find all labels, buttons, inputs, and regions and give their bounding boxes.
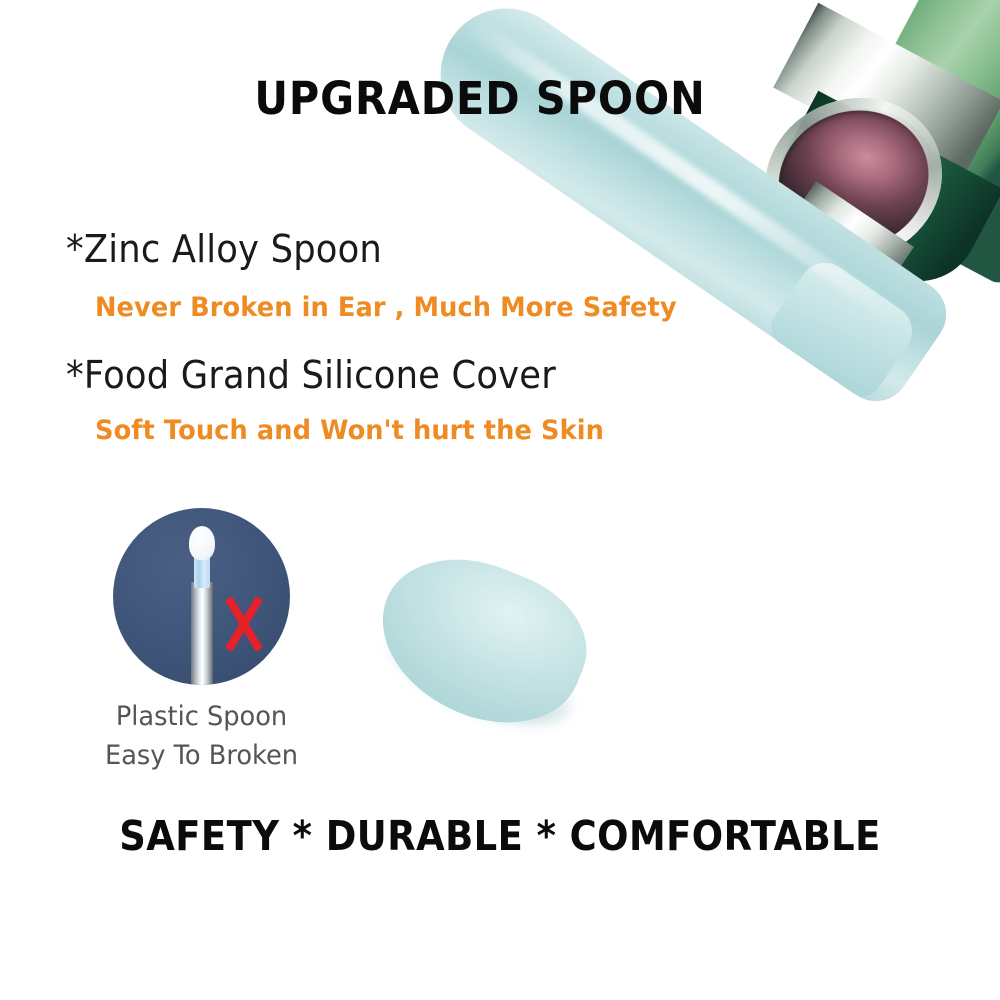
silicone-tip-shadow [380,607,582,743]
badge-circle-background [113,508,290,685]
plastic-spoon-head-icon [189,526,215,560]
feature-heading-zinc-alloy-spoon: *Zinc Alloy Spoon [66,227,382,271]
red-x-icon [217,594,271,654]
page-title: UPGRADED SPOON [38,72,921,125]
silicone-spoon-tip [357,533,606,750]
feature-heading-silicone-cover: *Food Grand Silicone Cover [66,353,556,397]
feature-subtext-silicone-cover: Soft Touch and Won't hurt the Skin [95,415,604,446]
badge-caption-line-2: Easy To Broken [67,736,336,775]
bottom-tagline: SAFETY * DURABLE * COMFORTABLE [50,812,950,860]
plastic-spoon-badge [113,508,290,685]
silicone-highlight-ridge [462,14,917,335]
plastic-spoon-shaft-icon [191,582,213,685]
badge-caption: Plastic Spoon Easy To Broken [67,697,336,775]
infographic-canvas: UPGRADED SPOON *Zinc Alloy Spoon Never B… [0,0,1000,1000]
metal-neck [732,181,914,371]
feature-subtext-zinc-alloy-spoon: Never Broken in Ear , Much More Safety [95,292,677,323]
green-handle-body [818,0,1000,287]
silicone-cover-cap [764,253,922,403]
badge-caption-line-1: Plastic Spoon [67,697,336,736]
